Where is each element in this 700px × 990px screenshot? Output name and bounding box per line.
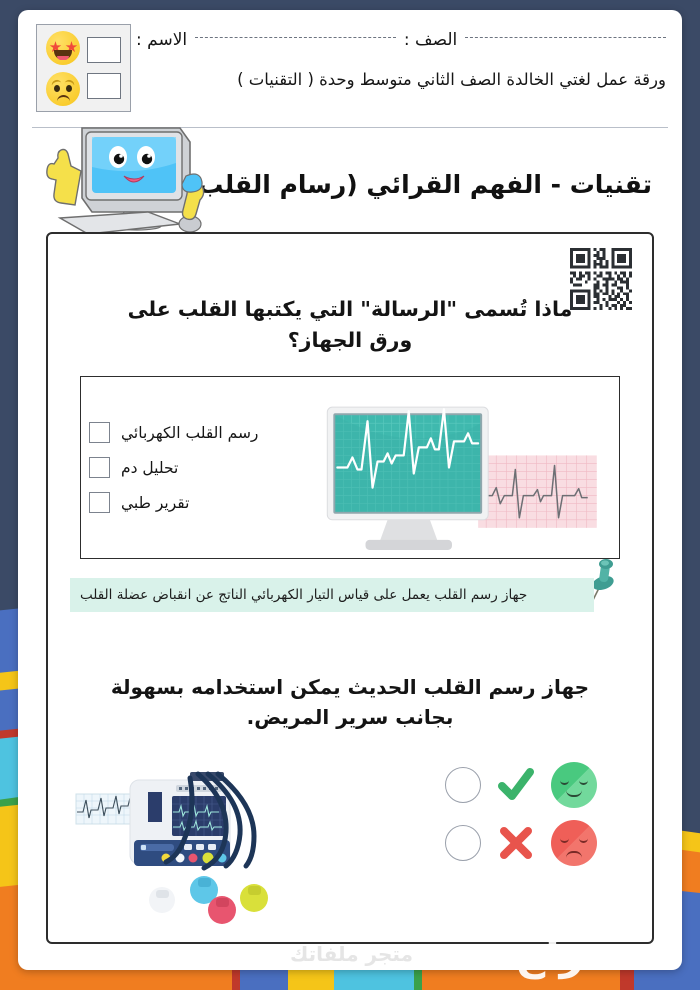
mood-checkbox-sad[interactable] [87, 73, 121, 99]
false-row[interactable] [407, 814, 597, 872]
option-checkbox[interactable] [89, 457, 110, 478]
option-row[interactable]: تحليل دم [89, 457, 277, 478]
worksheet-header: ★ ★ الاسم : الصف : [18, 10, 682, 128]
option-label: تحليل دم [121, 459, 178, 477]
option-checkbox[interactable] [89, 492, 110, 513]
pleading-face-emoji [46, 72, 80, 106]
page-title: تقنيات - الفهم القرائي (رسام القلب) [187, 170, 652, 199]
mood-rating-box[interactable]: ★ ★ [36, 24, 131, 112]
name-label: الاسم : [136, 30, 187, 50]
class-input-line[interactable] [465, 37, 666, 38]
fact-banner: جهاز رسم القلب يعمل على قياس التيار الكه… [70, 578, 594, 612]
question-text: ماذا تُسمى "الرسالة" التي يكتبها القلب ع… [108, 294, 592, 356]
option-row[interactable]: تقرير طبي [89, 492, 277, 513]
sad-face-icon [551, 820, 597, 866]
cross-mark-icon [495, 822, 537, 864]
fact-text: جهاز رسم القلب يعمل على قياس التيار الكه… [80, 587, 527, 603]
worksheet-subtitle: ورقة عمل لغتي الخالدة الصف الثاني متوسط … [136, 70, 666, 89]
exercise-card: ماذا تُسمى "الرسالة" التي يكتبها القلب ع… [46, 232, 654, 944]
option-label: تقرير طبي [121, 494, 189, 512]
check-mark-icon [495, 764, 537, 806]
option-row[interactable]: رسم القلب الكهربائي [89, 422, 277, 443]
true-false-area [407, 756, 597, 872]
answer-panel: رسم القلب الكهربائي تحليل دم تقرير طبي [80, 376, 620, 559]
name-input-line[interactable] [195, 37, 396, 38]
false-option-circle[interactable] [445, 825, 481, 861]
star-struck-emoji: ★ ★ [46, 31, 80, 65]
true-row[interactable] [407, 756, 597, 814]
computer-mascot-icon [30, 120, 220, 240]
true-option-circle[interactable] [445, 767, 481, 803]
mood-checkbox-happy[interactable] [87, 37, 121, 63]
ecg-monitor-icon [291, 377, 619, 558]
option-checkbox[interactable] [89, 422, 110, 443]
header-text-block: الاسم : الصف : ورقة عمل لغتي الخالدة الص… [136, 30, 666, 89]
option-label: رسم القلب الكهربائي [121, 424, 258, 442]
worksheet-page: ★ ★ الاسم : الصف : [18, 10, 682, 970]
statement-text: جهاز رسم القلب الحديث يمكن استخدامه بسهو… [108, 672, 592, 732]
options-list: رسم القلب الكهربائي تحليل دم تقرير طبي [81, 422, 291, 513]
title-area: تقنيات - الفهم القرائي (رسام القلب) [18, 128, 682, 224]
ecg-machine-icon [72, 762, 302, 927]
worksheet-screenshot: ★ ★ الاسم : الصف : [0, 0, 700, 990]
happy-face-icon [551, 762, 597, 808]
class-label: الصف : [404, 30, 457, 50]
